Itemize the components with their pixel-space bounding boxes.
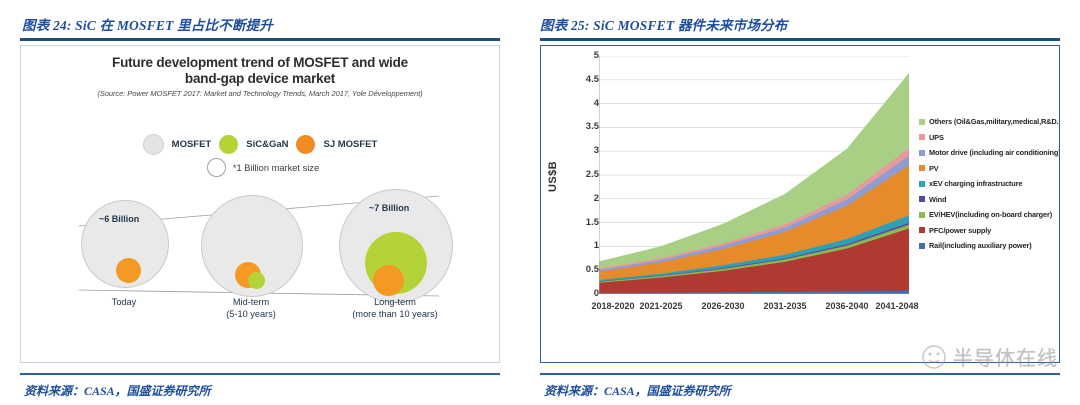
exhibit-24-top-rule bbox=[20, 38, 500, 41]
legend-swatch-sic-gan bbox=[219, 135, 238, 154]
exhibit-25-source: 资料来源：CASA，国盛证券研究所 bbox=[544, 382, 731, 399]
legend-swatch bbox=[919, 181, 925, 187]
y-tick-label: 4.5 bbox=[565, 74, 599, 85]
bubble-axis-label-today-name: Today bbox=[84, 296, 164, 308]
exhibit-25-bottom-rule bbox=[540, 373, 1060, 375]
y-tick-label: 1.5 bbox=[565, 217, 599, 228]
legend-label-mosfet: MOSFET bbox=[172, 139, 212, 150]
watermark: 半导体在线 bbox=[921, 342, 1058, 371]
legend-item[interactable]: EV/HEV(including on-board charger) bbox=[919, 207, 1060, 223]
y-axis-title: US$B bbox=[547, 161, 559, 192]
legend-label: Others (Oil&Gas,military,medical,R&D...) bbox=[929, 117, 1060, 126]
legend-swatch bbox=[919, 134, 925, 140]
y-axis-ticks: 00.511.522.533.544.55 bbox=[559, 46, 599, 362]
legend-item[interactable]: Wind bbox=[919, 192, 1060, 208]
legend-item[interactable]: PV bbox=[919, 161, 1060, 177]
y-tick-label: 2 bbox=[565, 193, 599, 204]
figure-page: 图表 24: SiC 在 MOSFET 里占比不断提升 Future devel… bbox=[0, 0, 1080, 405]
exhibit-24-figure: Future development trend of MOSFET and w… bbox=[20, 45, 500, 363]
y-tick-label: 4 bbox=[565, 98, 599, 109]
legend-label-sic-gan: SiC&GaN bbox=[246, 139, 288, 150]
figure-legend: MOSFET SiC&GaN SJ MOSFET bbox=[21, 134, 499, 155]
bubble-axis-label-today: Today bbox=[84, 296, 164, 308]
watermark-text: 半导体在线 bbox=[953, 342, 1058, 371]
x-tick-label: 2021-2025 bbox=[639, 301, 682, 311]
legend-swatch bbox=[919, 150, 925, 156]
exhibit-25-panel: 图表 25: SiC MOSFET 器件未来市场分布 US$B 00.511.5… bbox=[520, 0, 1080, 405]
legend-swatch-mosfet bbox=[143, 134, 164, 155]
x-tick-label: 2018-2020 bbox=[591, 301, 634, 311]
exhibit-25-title: 图表 25: SiC MOSFET 器件未来市场分布 bbox=[540, 14, 787, 34]
figure-title: Future development trend of MOSFET and w… bbox=[21, 55, 499, 87]
legend-label: Wind bbox=[929, 195, 946, 204]
smiley-logo-icon bbox=[921, 344, 947, 370]
legend-label: PV bbox=[929, 164, 939, 173]
legend-label: Rail(including auxiliary power) bbox=[929, 241, 1032, 250]
chart-legend: Others (Oil&Gas,military,medical,R&D...)… bbox=[919, 114, 1060, 254]
bubble-value-today: ~6 Billion bbox=[99, 214, 139, 224]
bubble-value-long-term: ~7 Billion bbox=[369, 203, 409, 213]
exhibit-25-top-rule bbox=[540, 38, 1060, 41]
legend-swatch bbox=[919, 243, 925, 249]
legend-swatch bbox=[919, 196, 925, 202]
x-tick-label: 2031-2035 bbox=[763, 301, 806, 311]
bubble-axis-label-long-term-sub: (more than 10 years) bbox=[335, 308, 455, 320]
figure-title-line1: Future development trend of MOSFET and w… bbox=[21, 55, 499, 71]
y-tick-label: 1 bbox=[565, 240, 599, 251]
legend-label-size-note: *1 Billion market size bbox=[233, 163, 319, 173]
exhibit-24-title: 图表 24: SiC 在 MOSFET 里占比不断提升 bbox=[22, 14, 273, 34]
x-tick-label: 2036-2040 bbox=[825, 301, 868, 311]
legend-item[interactable]: Rail(including auxiliary power) bbox=[919, 238, 1060, 254]
x-tick-label: 2026-2030 bbox=[701, 301, 744, 311]
y-tick-label: 5 bbox=[565, 50, 599, 61]
exhibit-24-bottom-rule bbox=[20, 373, 500, 375]
exhibit-24-panel: 图表 24: SiC 在 MOSFET 里占比不断提升 Future devel… bbox=[0, 0, 520, 405]
bubble-chart: ~6 Billion ~7 Billion Today bbox=[21, 186, 499, 306]
bubble-axis-label-long-term: Long-term (more than 10 years) bbox=[335, 296, 455, 320]
legend-label-sj-mosfet: SJ MOSFET bbox=[323, 139, 377, 150]
legend-item[interactable]: Motor drive (including air conditioning) bbox=[919, 145, 1060, 161]
x-tick-label: 2041-2048 bbox=[875, 301, 918, 311]
legend-item[interactable]: xEV charging infrastructure bbox=[919, 176, 1060, 192]
plot-area bbox=[599, 56, 909, 294]
exhibit-24-source: 资料来源：CASA，国盛证券研究所 bbox=[24, 382, 211, 399]
y-tick-label: 2.5 bbox=[565, 169, 599, 180]
bubble-sj-mosfet-today bbox=[116, 258, 141, 283]
figure-size-note-row: *1 Billion market size bbox=[21, 158, 499, 177]
bubble-axis-label-mid-term-name: Mid-term bbox=[211, 296, 291, 308]
bubble-axis-label-long-term-name: Long-term bbox=[335, 296, 455, 308]
area-series-svg bbox=[599, 56, 909, 294]
legend-swatch bbox=[919, 119, 925, 125]
bubble-sic-gan-mid-term bbox=[248, 272, 265, 289]
legend-label: PFC/power supply bbox=[929, 226, 991, 235]
legend-label: Motor drive (including air conditioning) bbox=[929, 148, 1060, 157]
legend-swatch bbox=[919, 227, 925, 233]
y-tick-label: 3.5 bbox=[565, 121, 599, 132]
legend-label: EV/HEV(including on-board charger) bbox=[929, 210, 1052, 219]
legend-swatch-sj-mosfet bbox=[296, 135, 315, 154]
legend-swatch bbox=[919, 165, 925, 171]
legend-item[interactable]: PFC/power supply bbox=[919, 223, 1060, 239]
y-tick-label: 3 bbox=[565, 145, 599, 156]
bubble-sj-mosfet-long-term bbox=[373, 265, 404, 296]
stacked-area-chart: US$B 00.511.522.533.544.55 2018-20202021… bbox=[541, 46, 1059, 362]
y-tick-label: 0.5 bbox=[565, 264, 599, 275]
legend-swatch-size-reference bbox=[207, 158, 226, 177]
y-tick-label: 0 bbox=[565, 288, 599, 299]
legend-swatch bbox=[919, 212, 925, 218]
bubble-axis-label-mid-term: Mid-term (5-10 years) bbox=[211, 296, 291, 320]
figure-subtitle: (Source: Power MOSFET 2017: Market and T… bbox=[21, 89, 499, 98]
figure-title-line2: band-gap device market bbox=[21, 71, 499, 87]
exhibit-25-chart: US$B 00.511.522.533.544.55 2018-20202021… bbox=[540, 45, 1060, 363]
bubble-axis-label-mid-term-sub: (5-10 years) bbox=[211, 308, 291, 320]
legend-label: xEV charging infrastructure bbox=[929, 179, 1022, 188]
legend-item[interactable]: UPS bbox=[919, 130, 1060, 146]
legend-label: UPS bbox=[929, 133, 944, 142]
legend-item[interactable]: Others (Oil&Gas,military,medical,R&D...) bbox=[919, 114, 1060, 130]
